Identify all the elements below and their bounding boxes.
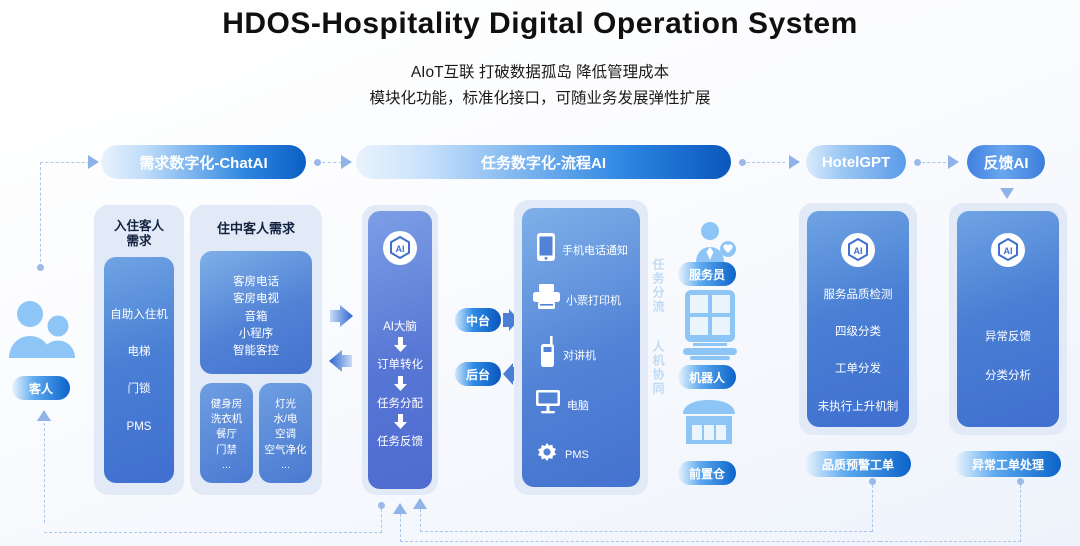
- instay-sub-left-items: 健身房 洗衣机 餐厅 门禁 ...: [200, 397, 253, 473]
- vertical-text-human-machine: 人机协同: [650, 340, 667, 396]
- instay-demand-card[interactable]: 住中客人需求 客房电话 客房电视 音箱 小程序 智能客控 健身房 洗衣机 餐厅 …: [190, 205, 322, 495]
- executor-label: 机器人: [689, 369, 725, 386]
- ai-badge-icon: AI: [383, 231, 417, 265]
- vertical-text-task-routing: 任务分流: [650, 258, 667, 314]
- phase-label: 任务数字化-流程AI: [481, 152, 606, 173]
- store-icon: [681, 398, 737, 453]
- instay-primary-items: 客房电话 客房电视 音箱 小程序 智能客控: [200, 274, 312, 360]
- executor-label: 前置仓: [689, 465, 725, 482]
- guests-icon: [8, 300, 76, 367]
- desktop-icon: [535, 390, 561, 419]
- connector-dot: [739, 159, 746, 166]
- loop1-dash-h: [44, 532, 382, 533]
- checkin-items: 自助入住机 电梯 门锁 PMS: [104, 309, 174, 434]
- device-row[interactable]: 电脑: [522, 390, 640, 419]
- ai-brain-card[interactable]: AI AI大脑 订单转化 任务分配 任务反馈: [362, 205, 438, 495]
- feedback-card[interactable]: AI 异常反馈 分类分析: [949, 203, 1067, 435]
- phase-bar-flowai[interactable]: 任务数字化-流程AI: [356, 145, 731, 179]
- loop2-dash-h: [400, 541, 880, 542]
- gear-icon: [535, 440, 559, 469]
- phase-label: HotelGPT: [822, 154, 890, 171]
- device-label: 对讲机: [563, 347, 596, 363]
- connector-dot: [869, 478, 876, 485]
- instay-sub-right-items: 灯光 水/电 空调 空气净化 ...: [259, 397, 312, 473]
- connector-arrow: [948, 155, 959, 169]
- device-label: 手机电话通知: [562, 242, 628, 258]
- robot-cart-icon: [681, 290, 739, 367]
- down-arrow-icon: [394, 337, 407, 352]
- connector-dash: [322, 162, 342, 163]
- hotelgpt-panel: AI 服务品质检测 四级分类 工单分发 未执行上升机制: [807, 211, 909, 427]
- device-row[interactable]: PMS: [522, 440, 640, 469]
- svg-text:AI: AI: [1004, 246, 1013, 256]
- subtitle-line-2: 模块化功能，标准化接口，可随业务发展弹性扩展: [0, 86, 1080, 108]
- connector-dot: [378, 502, 385, 509]
- connector-dash: [747, 162, 785, 163]
- feedback-panel: AI 异常反馈 分类分析: [957, 211, 1059, 427]
- guest-entry-dash-v: [40, 162, 41, 267]
- guest-label: 客人: [29, 380, 53, 397]
- guest-entry-arrow: [88, 155, 99, 169]
- loop2-arrow: [393, 503, 407, 514]
- down-arrow-icon: [394, 414, 407, 429]
- chevron-right-icon: [328, 305, 354, 332]
- guest-feedback-dash: [44, 423, 45, 523]
- subtitle-line-1: AIoT互联 打破数据孤岛 降低管理成本: [0, 60, 1080, 82]
- guest-feedback-arrow: [37, 410, 51, 421]
- page-title: HDOS-Hospitality Digital Operation Syste…: [0, 7, 1080, 41]
- instay-sub-left-panel: 健身房 洗衣机 餐厅 门禁 ...: [200, 383, 253, 483]
- phone-icon: [536, 232, 556, 267]
- ai-badge-icon: AI: [991, 233, 1025, 267]
- hotelgpt-card[interactable]: AI 服务品质检测 四级分类 工单分发 未执行上升机制: [799, 203, 917, 435]
- loop3-arrow: [413, 498, 427, 509]
- connector-dot: [1017, 478, 1024, 485]
- hotelgpt-loop-dash: [872, 485, 873, 532]
- connector-dot: [37, 264, 44, 271]
- midend-pill[interactable]: 中台: [455, 308, 501, 332]
- device-label: 电脑: [567, 397, 589, 413]
- device-row[interactable]: 对讲机: [522, 336, 640, 373]
- backend-pill[interactable]: 后台: [455, 362, 501, 386]
- instay-primary-panel: 客房电话 客房电视 音箱 小程序 智能客控: [200, 251, 312, 374]
- connector-arrow: [341, 155, 352, 169]
- instay-card-heading: 住中客人需求: [190, 221, 322, 236]
- ai-brain-steps: AI大脑 订单转化 任务分配 任务反馈: [368, 321, 432, 450]
- guest-entry-dash: [40, 162, 90, 163]
- midend-label: 中台: [466, 312, 490, 329]
- connector-dot: [914, 159, 921, 166]
- connector-dash: [922, 162, 946, 163]
- svg-text:AI: AI: [396, 244, 405, 254]
- hotelgpt-footer-label: 品质预警工单: [822, 456, 894, 473]
- feedback-items: 异常反馈 分类分析: [957, 331, 1059, 383]
- backend-label: 后台: [466, 366, 490, 383]
- feedback-entry-arrow: [1000, 188, 1014, 199]
- loop3-dash-v: [420, 509, 421, 532]
- executor-pill-staff[interactable]: 服务员: [678, 262, 736, 286]
- walkie-talkie-icon: [540, 336, 557, 373]
- svg-text:AI: AI: [854, 246, 863, 256]
- ai-badge-icon: AI: [841, 233, 875, 267]
- feedback-loop-dash-h: [880, 541, 1021, 542]
- phase-bar-feedback[interactable]: 反馈AI: [967, 145, 1045, 179]
- loop2-dash-v: [400, 514, 401, 542]
- feedback-loop-dash: [1020, 485, 1021, 542]
- hotelgpt-footer-pill[interactable]: 品质预警工单: [805, 451, 911, 477]
- phase-label: 需求数字化-ChatAI: [139, 152, 267, 173]
- instay-sub-right-panel: 灯光 水/电 空调 空气净化 ...: [259, 383, 312, 483]
- checkin-items-panel: 自助入住机 电梯 门锁 PMS: [104, 257, 174, 483]
- guest-label-pill[interactable]: 客人: [12, 376, 70, 400]
- feedback-footer-pill[interactable]: 异常工单处理: [955, 451, 1061, 477]
- feedback-footer-label: 异常工单处理: [972, 456, 1044, 473]
- phase-bar-hotelgpt[interactable]: HotelGPT: [806, 145, 906, 179]
- device-row[interactable]: 手机电话通知: [522, 232, 640, 267]
- hotelgpt-items: 服务品质检测 四级分类 工单分发 未执行上升机制: [807, 289, 909, 414]
- loop1-dash-v: [381, 509, 382, 533]
- connector-arrow: [789, 155, 800, 169]
- loop3-dash-h: [420, 531, 872, 532]
- down-arrow-icon: [394, 376, 407, 391]
- device-label: PMS: [565, 449, 589, 461]
- phase-label: 反馈AI: [983, 152, 1028, 173]
- devices-card[interactable]: 手机电话通知 小票打印机 对讲机 电脑: [514, 200, 648, 495]
- diagram-canvas: HDOS-Hospitality Digital Operation Syste…: [0, 0, 1080, 546]
- devices-panel: 手机电话通知 小票打印机 对讲机 电脑: [522, 208, 640, 487]
- phase-bar-chatai[interactable]: 需求数字化-ChatAI: [101, 145, 306, 179]
- executor-label: 服务员: [689, 266, 725, 283]
- device-label: 小票打印机: [566, 292, 621, 308]
- checkin-demand-card[interactable]: 入住客人 需求 自助入住机 电梯 门锁 PMS: [94, 205, 184, 495]
- checkin-card-heading: 入住客人 需求: [94, 219, 184, 249]
- device-row[interactable]: 小票打印机: [522, 284, 640, 315]
- connector-dot: [314, 159, 321, 166]
- executor-pill-robot[interactable]: 机器人: [678, 365, 736, 389]
- executor-pill-store[interactable]: 前置仓: [678, 461, 736, 485]
- ai-brain-panel: AI AI大脑 订单转化 任务分配 任务反馈: [368, 211, 432, 489]
- printer-icon: [533, 284, 560, 315]
- chevron-left-icon: [328, 350, 354, 377]
